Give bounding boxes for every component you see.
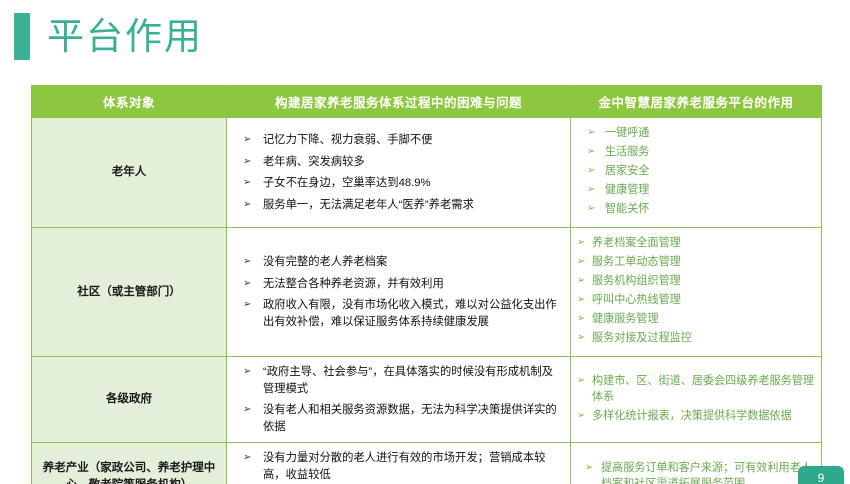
- action-item: ➢多样化统计报表，决策提供科学数据依据: [577, 408, 815, 424]
- column-header-problems: 构建居家养老服务体系过程中的困难与问题: [227, 86, 571, 118]
- row-object-label: 老年人: [42, 164, 216, 181]
- action-item-text: 生活服务: [605, 146, 649, 158]
- action-item-text: 智能关怀: [605, 203, 649, 215]
- row-object-label: 养老产业（家政公司、养老护理中心、敬老院等服务机构）: [42, 460, 216, 484]
- action-item: ➢提高服务订单和客户来源；可有效利用老人档案和社区渠道拓展服务范围: [577, 460, 815, 484]
- bullet-list: ➢“政府主导、社会参与”，在具体落实的时候没有形成机制及管理模式➢没有老人和相关…: [241, 364, 562, 435]
- action-item-text: 服务工单动态管理: [592, 256, 681, 268]
- action-item: ➢一键呼通: [577, 125, 815, 141]
- problem-item: ➢政府收入有限，没有市场化收入模式，难以对公益化支出作出有效补偿，难以保证服务体…: [241, 297, 562, 330]
- row-object-cell: 各级政府: [32, 357, 227, 443]
- bullet-arrow-icon: ➢: [243, 197, 251, 214]
- bullet-arrow-icon: ➢: [243, 364, 251, 381]
- problem-item-text: “政府主导、社会参与”，在具体落实的时候没有形成机制及管理模式: [263, 366, 553, 395]
- row-object-label: 各级政府: [42, 391, 216, 408]
- action-item: ➢智能关怀: [577, 201, 815, 217]
- page-number-badge: 9: [798, 466, 844, 484]
- row-object-cell: 社区（或主管部门）: [32, 228, 227, 357]
- bullet-list: ➢记忆力下降、视力衰弱、手脚不便➢老年病、突发病较多➢子女不在身边，空巢率达到4…: [241, 132, 562, 213]
- bullet-arrow-icon: ➢: [587, 163, 595, 179]
- action-item: ➢服务对接及过程监控: [577, 330, 815, 346]
- row-object-cell: 老年人: [32, 118, 227, 228]
- bullet-arrow-icon: ➢: [577, 235, 585, 251]
- page-title: 平台作用: [47, 15, 203, 59]
- action-item: ➢服务机构组织管理: [577, 273, 815, 289]
- action-item-text: 多样化统计报表，决策提供科学数据依据: [592, 410, 792, 422]
- bullet-arrow-icon: ➢: [587, 182, 595, 198]
- row-actions-cell: ➢养老档案全面管理➢服务工单动态管理➢服务机构组织管理➢呼叫中心热线管理➢健康服…: [571, 228, 822, 357]
- problem-item-text: 服务单一，无法满足老年人“医养”养老需求: [263, 199, 474, 211]
- bullet-arrow-icon: ➢: [585, 460, 593, 476]
- table-row: 老年人➢记忆力下降、视力衰弱、手脚不便➢老年病、突发病较多➢子女不在身边，空巢率…: [32, 118, 822, 228]
- bullet-list: ➢没有完整的老人养老档案➢无法整合各种养老资源，并有效利用➢政府收入有限，没有市…: [241, 254, 562, 330]
- action-item-text: 构建市、区、街道、居委会四级养老服务管理体系: [592, 375, 814, 403]
- problem-item-text: 政府收入有限，没有市场化收入模式，难以对公益化支出作出有效补偿，难以保证服务体系…: [263, 299, 557, 328]
- problem-item-text: 无法整合各种养老资源，并有效利用: [263, 278, 444, 290]
- row-actions-cell: ➢构建市、区、街道、居委会四级养老服务管理体系➢多样化统计报表，决策提供科学数据…: [571, 357, 822, 443]
- row-object-label: 社区（或主管部门）: [42, 284, 216, 301]
- slide-root: 平台作用 体系对象 构建居家养老服务体系过程中的困难与问题 金中智慧居家养老服务…: [0, 0, 850, 484]
- action-item-text: 一键呼通: [605, 127, 649, 139]
- bullet-list: ➢一键呼通➢生活服务➢居家安全➢健康管理➢智能关怀: [577, 125, 815, 217]
- bullet-arrow-icon: ➢: [243, 297, 251, 314]
- row-actions-cell: ➢一键呼通➢生活服务➢居家安全➢健康管理➢智能关怀: [571, 118, 822, 228]
- bullet-arrow-icon: ➢: [577, 311, 585, 327]
- action-item-text: 居家安全: [605, 165, 649, 177]
- action-item-text: 健康服务管理: [592, 313, 659, 325]
- action-item: ➢健康服务管理: [577, 311, 815, 327]
- row-object-cell: 养老产业（家政公司、养老护理中心、敬老院等服务机构）: [32, 443, 227, 484]
- bullet-arrow-icon: ➢: [577, 330, 585, 346]
- bullet-arrow-icon: ➢: [577, 273, 585, 289]
- problem-item-text: 子女不在身边，空巢率达到48.9%: [263, 177, 431, 189]
- problem-item: ➢没有力量对分散的老人进行有效的市场开发；营销成本较高，收益较低: [241, 450, 562, 483]
- problem-item: ➢没有完整的老人养老档案: [241, 254, 562, 271]
- problem-item-text: 没有完整的老人养老档案: [263, 256, 387, 268]
- row-problems-cell: ➢“政府主导、社会参与”，在具体落实的时候没有形成机制及管理模式➢没有老人和相关…: [227, 357, 571, 443]
- problem-item-text: 没有力量对分散的老人进行有效的市场开发；营销成本较高，收益较低: [263, 452, 545, 481]
- table-row: 养老产业（家政公司、养老护理中心、敬老院等服务机构）➢没有力量对分散的老人进行有…: [32, 443, 822, 484]
- row-actions-cell: ➢提高服务订单和客户来源；可有效利用老人档案和社区渠道拓展服务范围: [571, 443, 822, 484]
- table-header-row: 体系对象 构建居家养老服务体系过程中的困难与问题 金中智慧居家养老服务平台的作用: [32, 86, 822, 118]
- bullet-arrow-icon: ➢: [243, 450, 251, 467]
- table-row: 社区（或主管部门）➢没有完整的老人养老档案➢无法整合各种养老资源，并有效利用➢政…: [32, 228, 822, 357]
- column-header-object: 体系对象: [32, 86, 227, 118]
- problem-item: ➢没有老人和相关服务资源数据，无法为科学决策提供详实的依据: [241, 402, 562, 435]
- bullet-arrow-icon: ➢: [587, 201, 595, 217]
- problem-item: ➢老年病、突发病较多: [241, 154, 562, 171]
- bullet-arrow-icon: ➢: [587, 125, 595, 141]
- bullet-arrow-icon: ➢: [577, 408, 585, 424]
- column-header-actions: 金中智慧居家养老服务平台的作用: [571, 86, 822, 118]
- action-item-text: 健康管理: [605, 184, 649, 196]
- slide-title-group: 平台作用: [14, 13, 203, 60]
- bullet-arrow-icon: ➢: [243, 254, 251, 271]
- action-item: ➢居家安全: [577, 163, 815, 179]
- problem-item: ➢记忆力下降、视力衰弱、手脚不便: [241, 132, 562, 149]
- problem-item: ➢子女不在身边，空巢率达到48.9%: [241, 175, 562, 192]
- bullet-arrow-icon: ➢: [243, 175, 251, 192]
- bullet-arrow-icon: ➢: [243, 154, 251, 171]
- table-header: 体系对象 构建居家养老服务体系过程中的困难与问题 金中智慧居家养老服务平台的作用: [32, 86, 822, 118]
- action-item: ➢构建市、区、街道、居委会四级养老服务管理体系: [577, 373, 815, 405]
- action-item: ➢呼叫中心热线管理: [577, 292, 815, 308]
- table-row: 各级政府➢“政府主导、社会参与”，在具体落实的时候没有形成机制及管理模式➢没有老…: [32, 357, 822, 443]
- bullet-list: ➢构建市、区、街道、居委会四级养老服务管理体系➢多样化统计报表，决策提供科学数据…: [577, 373, 815, 424]
- bullet-arrow-icon: ➢: [243, 132, 251, 149]
- bullet-arrow-icon: ➢: [587, 144, 595, 160]
- title-accent-bar: [14, 13, 30, 60]
- bullet-arrow-icon: ➢: [243, 402, 251, 419]
- action-item: ➢养老档案全面管理: [577, 235, 815, 251]
- problem-item-text: 记忆力下降、视力衰弱、手脚不便: [263, 134, 432, 146]
- action-item-text: 服务机构组织管理: [592, 275, 681, 287]
- row-problems-cell: ➢没有力量对分散的老人进行有效的市场开发；营销成本较高，收益较低➢管理水平不高，…: [227, 443, 571, 484]
- problem-item-text: 老年病、突发病较多: [263, 156, 365, 168]
- action-item-text: 养老档案全面管理: [592, 237, 681, 249]
- bullet-arrow-icon: ➢: [243, 276, 251, 293]
- action-item-text: 提高服务订单和客户来源；可有效利用老人档案和社区渠道拓展服务范围: [601, 462, 812, 484]
- row-problems-cell: ➢记忆力下降、视力衰弱、手脚不便➢老年病、突发病较多➢子女不在身边，空巢率达到4…: [227, 118, 571, 228]
- platform-role-table: 体系对象 构建居家养老服务体系过程中的困难与问题 金中智慧居家养老服务平台的作用…: [31, 85, 822, 484]
- bullet-arrow-icon: ➢: [577, 292, 585, 308]
- bullet-arrow-icon: ➢: [577, 373, 585, 389]
- action-item-text: 呼叫中心热线管理: [592, 294, 681, 306]
- action-item: ➢服务工单动态管理: [577, 254, 815, 270]
- action-item-text: 服务对接及过程监控: [592, 332, 692, 344]
- row-problems-cell: ➢没有完整的老人养老档案➢无法整合各种养老资源，并有效利用➢政府收入有限，没有市…: [227, 228, 571, 357]
- action-item: ➢健康管理: [577, 182, 815, 198]
- problem-item-text: 没有老人和相关服务资源数据，无法为科学决策提供详实的依据: [263, 404, 557, 433]
- problem-item: ➢服务单一，无法满足老年人“医养”养老需求: [241, 197, 562, 214]
- bullet-list: ➢没有力量对分散的老人进行有效的市场开发；营销成本较高，收益较低➢管理水平不高，…: [241, 450, 562, 484]
- bullet-list: ➢养老档案全面管理➢服务工单动态管理➢服务机构组织管理➢呼叫中心热线管理➢健康服…: [577, 235, 815, 346]
- bullet-list: ➢提高服务订单和客户来源；可有效利用老人档案和社区渠道拓展服务范围: [577, 460, 815, 484]
- action-item: ➢生活服务: [577, 144, 815, 160]
- table-body: 老年人➢记忆力下降、视力衰弱、手脚不便➢老年病、突发病较多➢子女不在身边，空巢率…: [32, 118, 822, 484]
- problem-item: ➢无法整合各种养老资源，并有效利用: [241, 276, 562, 293]
- problem-item: ➢“政府主导、社会参与”，在具体落实的时候没有形成机制及管理模式: [241, 364, 562, 397]
- bullet-arrow-icon: ➢: [577, 254, 585, 270]
